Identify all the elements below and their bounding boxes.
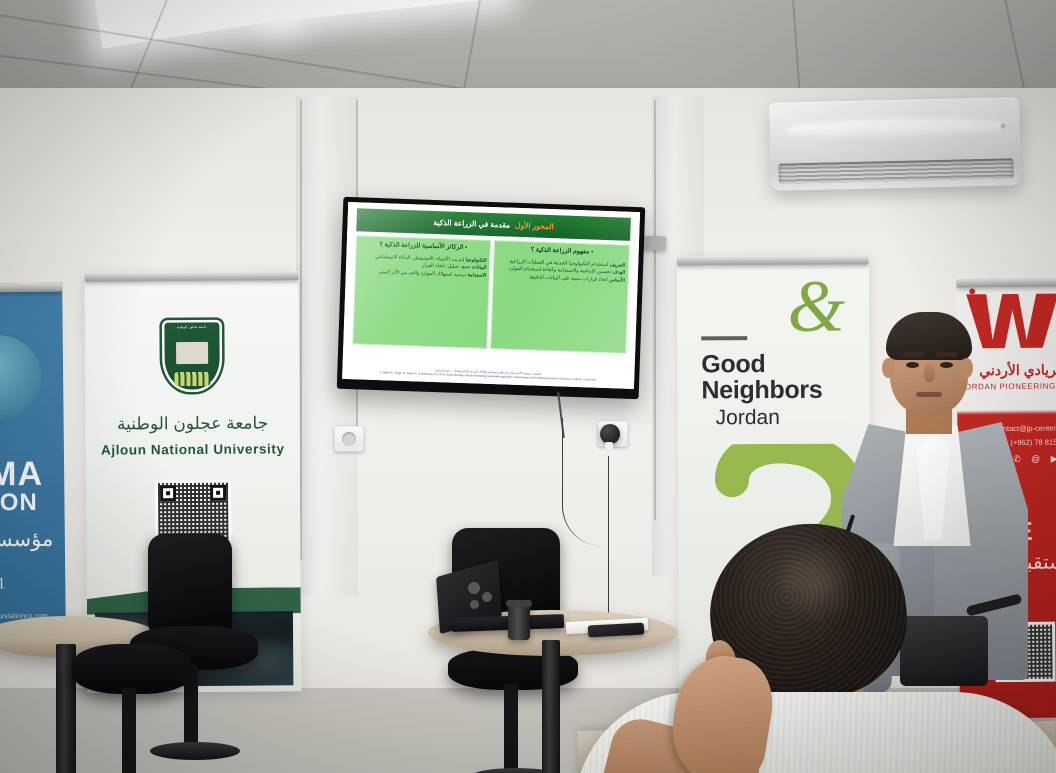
socket-hole-icon xyxy=(342,432,356,446)
banner-top-rail xyxy=(677,256,869,266)
slide-right-key: الهدف xyxy=(612,271,625,276)
slide-right-text: اتخاذ قرارات مبنية على البيانات الدقيقة xyxy=(529,275,608,283)
chair-base xyxy=(150,742,240,760)
banner-top-rail xyxy=(956,278,1056,288)
banner-top-rail xyxy=(0,283,62,293)
slide-body: • الركائز الأساسية للزراعة الذكية ؟ التك… xyxy=(352,235,630,354)
blue-banner-arabic: مؤسس xyxy=(0,527,53,553)
globe-icon xyxy=(0,335,42,420)
ac-indicator-light xyxy=(1001,123,1006,128)
chair-backrest xyxy=(148,534,232,634)
power-cable xyxy=(562,418,610,546)
presenter-ear xyxy=(960,358,973,378)
crest-emblem xyxy=(176,342,208,364)
banner-blue-sponsor: MA TION مؤسس 791 www.foundationco.com xyxy=(0,283,66,636)
presenter-mouth xyxy=(916,392,942,397)
slide-left-key: التكنولوجيا xyxy=(466,258,487,264)
air-conditioner xyxy=(769,97,1021,191)
wall-mounted-tv: مقدمة في الزراعة الذكية المحور الأول • ا… xyxy=(337,197,646,399)
qr-eye-icon xyxy=(210,485,226,501)
presenter-ear xyxy=(882,358,895,378)
ac-gloss xyxy=(784,117,1004,140)
slide-left-key: الاستدامة xyxy=(467,273,486,279)
coffee-cup-lid xyxy=(506,600,532,607)
round-table-leg xyxy=(542,640,560,773)
crest-wheat-icon xyxy=(174,372,210,386)
wall-socket-left[interactable] xyxy=(334,426,364,452)
wall-shadow xyxy=(652,96,674,576)
good-neighbors-line2: Neighbors xyxy=(701,376,822,406)
logo-rule xyxy=(701,336,747,340)
ampersand-logo-icon: & xyxy=(787,270,845,344)
coffee-cup[interactable] xyxy=(508,604,530,640)
ceiling-light-panel xyxy=(268,0,503,22)
qr-eye-icon xyxy=(160,485,176,501)
slide-left-text: جمع، تحليل، اتخاذ القرار xyxy=(422,264,470,271)
slide-column-left: • الركائز الأساسية للزراعة الذكية ؟ التك… xyxy=(352,235,491,349)
slide-left-key: البيانات xyxy=(472,266,487,272)
laptop-sticker xyxy=(470,600,479,609)
slide-header-chapter: المحور الأول xyxy=(515,221,554,231)
university-name-arabic: جامعة عجلون الوطنية xyxy=(86,413,300,434)
good-neighbors-line3: Jordan xyxy=(716,406,780,430)
laptop-sticker xyxy=(482,592,492,602)
blue-banner-line2: TION xyxy=(0,489,38,518)
presenter-eye xyxy=(940,362,953,368)
university-crest-icon: جامعة عجلون الوطنية xyxy=(162,320,223,392)
university-name-english: Ajloun National University xyxy=(86,441,300,457)
chair-post xyxy=(122,688,136,773)
meeting-room-photo: مقدمة في الزراعة الذكية المحور الأول • ا… xyxy=(0,0,1056,773)
presenter-eye xyxy=(906,362,919,368)
bag-strap xyxy=(966,593,1023,616)
presenter-eyebrow xyxy=(902,352,924,357)
laptop-sticker xyxy=(468,582,480,594)
slide-right-key: الأساس xyxy=(609,278,625,284)
camera-bag xyxy=(900,616,988,686)
ac-vent xyxy=(778,158,1013,183)
attendee-person xyxy=(614,516,1054,773)
chair-post xyxy=(504,684,518,773)
crest-text: جامعة عجلون الوطنية xyxy=(162,325,222,330)
slide-left-text: ترشيد استهلاك الموارد والحد من الأثر الب… xyxy=(379,270,467,278)
blue-banner-number: 791 xyxy=(0,575,5,593)
slide-column-right: • مفهوم الزراعة الذكية ؟ التعريف استخدام… xyxy=(491,240,630,354)
slide-left-title: • الركائز الأساسية للزراعة الذكية ؟ xyxy=(359,240,487,251)
presentation-slide: مقدمة في الزراعة الذكية المحور الأول • ا… xyxy=(342,202,640,389)
presenter-hair xyxy=(886,312,972,360)
slide-header-subject: مقدمة في الزراعة الذكية xyxy=(433,218,510,230)
chair-seat xyxy=(72,644,192,694)
tv-screen: مقدمة في الزراعة الذكية المحور الأول • ا… xyxy=(342,202,640,389)
presenter-eyebrow xyxy=(936,352,958,357)
ceiling-light-panel xyxy=(92,0,290,48)
presenter-nose xyxy=(924,364,935,382)
good-neighbors-line1: Good xyxy=(701,350,765,379)
slide-right-key: التعريف xyxy=(610,263,626,269)
slide-footnotes: المصدر: منظمة الأغذية والزراعة للأمم الم… xyxy=(354,365,623,383)
banner-top-rail xyxy=(85,271,299,281)
slide-right-title: • مفهوم الزراعة الذكية ؟ xyxy=(498,245,626,256)
